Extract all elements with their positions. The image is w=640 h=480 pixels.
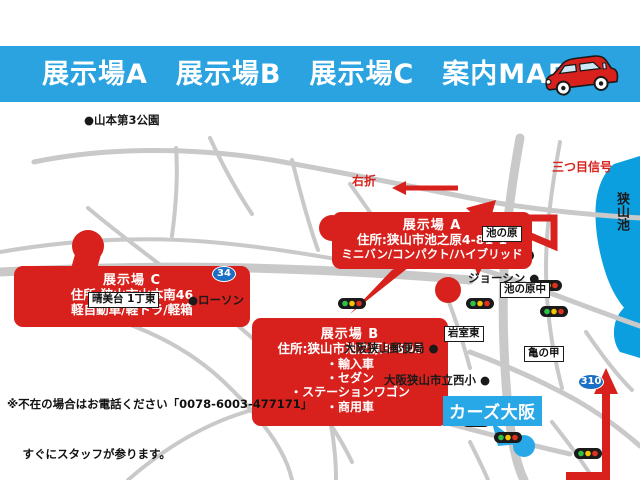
callout-a-types: ミニバン/コンパクト/ハイブリッド: [336, 248, 528, 262]
label-lawson: ●ローソン: [188, 292, 244, 308]
plate-harumidai: 晴美台 1丁東: [88, 292, 159, 308]
route-shield-34: 34: [212, 266, 236, 282]
note-line-1: ※不在の場合はお電話ください「0078-6003-477171」: [7, 396, 312, 413]
plate-kamenoko: 亀の甲: [524, 346, 564, 362]
note-line-2: すぐにスタッフが参ります。: [7, 446, 312, 463]
label-yamamoto-park: ●山本第3公園: [84, 112, 160, 128]
label-right-turn: 右折: [352, 172, 376, 189]
plate-iwamuro-higashi: 岩室東: [444, 326, 484, 342]
label-third-signal: 三つ目信号: [552, 158, 612, 175]
route-shield-310: 310: [578, 374, 604, 390]
route-arrow-bottom-right: [566, 390, 606, 476]
map-page: 展示場A 展示場B 展示場C 案内MAP: [0, 0, 640, 480]
plate-ikenohara: 池の原: [482, 226, 522, 242]
footer-notes: ※不在の場合はお電話ください「0078-6003-477171」 すぐにスタッフ…: [7, 363, 312, 480]
red-car-icon: [538, 52, 622, 98]
label-nishi-elementary: 大阪狭山市立西小 ●: [384, 372, 490, 388]
plate-ikenohara-naka: 池の原中: [500, 282, 550, 298]
page-header: 展示場A 展示場B 展示場C 案内MAP: [0, 46, 640, 102]
label-post-office: 大阪狭山郵便局 ●: [344, 340, 439, 356]
site-b-marker: [435, 277, 461, 303]
callout-c-marker: [72, 230, 104, 262]
label-cars-osaka[interactable]: カーズ大阪: [443, 396, 542, 426]
page-title: 展示場A 展示場B 展示場C 案内MAP: [42, 61, 569, 88]
sayama-pond-water-lower: [614, 298, 640, 358]
label-sayama-pond: 狭山池: [612, 192, 631, 231]
sayama-pond-water: [595, 156, 640, 318]
